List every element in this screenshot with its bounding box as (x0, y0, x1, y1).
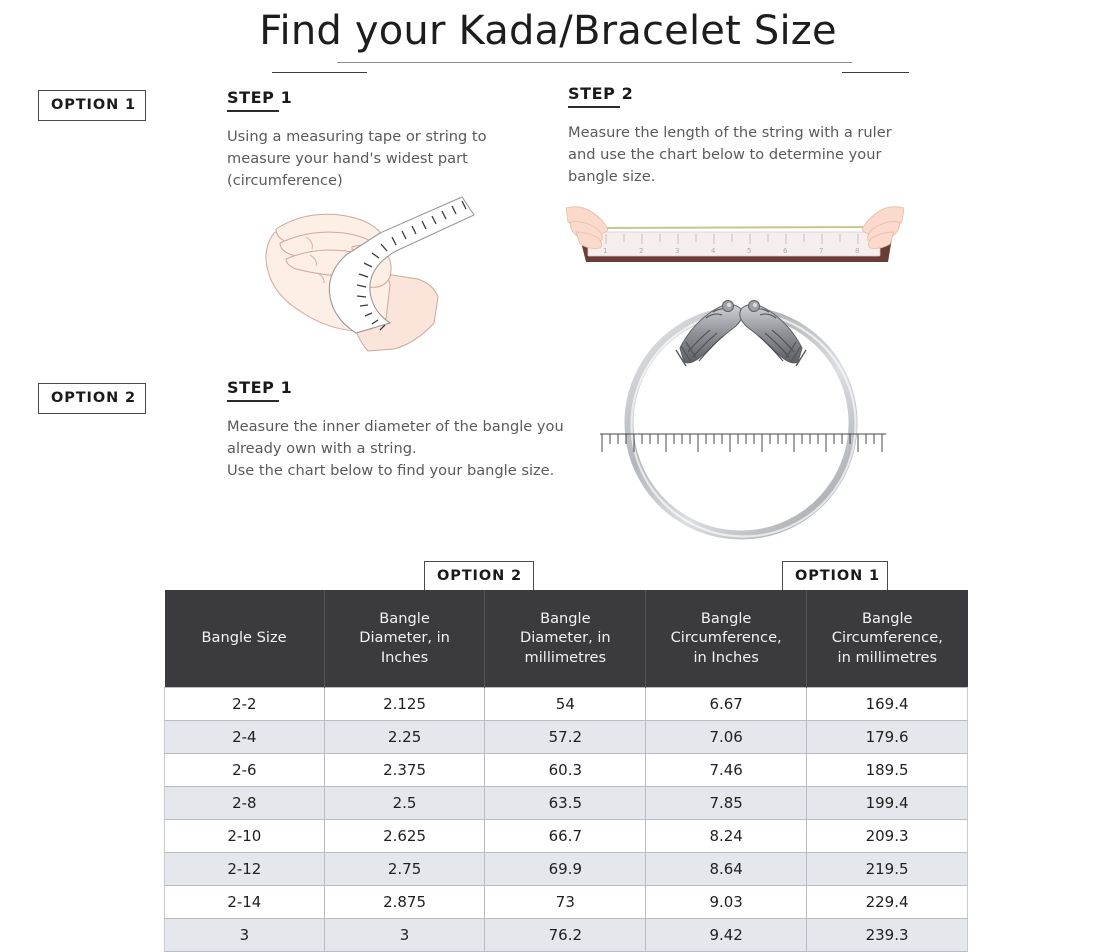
table-cell: 8.24 (646, 819, 807, 852)
option1-step2-heading: STEP 2 (568, 84, 918, 103)
table-column-header-4: BangleCircumference,in Inches (646, 590, 807, 687)
table-cell: 7.85 (646, 786, 807, 819)
column-header-line: in millimetres (838, 649, 938, 666)
silver-kada-bangle-with-ruler-illustration (580, 288, 902, 550)
table-cell: 209.3 (807, 819, 968, 852)
bangle-size-table: Bangle SizeBangleDiameter, inInchesBangl… (164, 590, 968, 952)
hand-with-measuring-tape-illustration (248, 193, 484, 365)
svg-text:7: 7 (819, 247, 823, 255)
option2-step1-block: STEP 1 Measure the inner diameter of the… (227, 378, 567, 482)
table-cell: 219.5 (807, 852, 968, 885)
option1-step1-block: STEP 1 Using a measuring tape or string … (227, 88, 527, 192)
option-1-badge-table: OPTION 1 (782, 561, 888, 592)
column-header-line: Inches (381, 649, 428, 666)
table-cell: 179.6 (807, 720, 968, 753)
column-header-line: Diameter, in (359, 629, 450, 646)
page-title: Find your Kada/Bracelet Size (0, 8, 1096, 54)
hand-tape-svg (248, 193, 484, 365)
option1-step2-body: Measure the length of the string with a … (568, 122, 918, 189)
bangle-terminal-right (740, 301, 806, 367)
table-cell: 2.5 (324, 786, 485, 819)
table-cell: 9.42 (646, 918, 807, 951)
table-row: 2-42.2557.27.06179.6 (165, 720, 968, 753)
column-header-line: Bangle (540, 610, 591, 627)
table-row: 2-122.7569.98.64219.5 (165, 852, 968, 885)
option1-step1-body: Using a measuring tape or string to meas… (227, 126, 527, 193)
table-row: 3376.29.42239.3 (165, 918, 968, 951)
ruler-string-svg: 123 456 78 (566, 196, 904, 288)
table-column-header-2: BangleDiameter, inInches (324, 590, 485, 687)
table-cell: 2.375 (324, 753, 485, 786)
table-cell: 2.75 (324, 852, 485, 885)
svg-text:8: 8 (855, 247, 859, 255)
column-header-line: Bangle (379, 610, 430, 627)
table-cell: 63.5 (485, 786, 646, 819)
svg-text:3: 3 (675, 247, 679, 255)
table-row: 2-82.563.57.85199.4 (165, 786, 968, 819)
decorative-line-right (842, 72, 909, 73)
svg-text:4: 4 (711, 247, 716, 255)
column-header-line: Circumference, (832, 629, 943, 646)
bangle-size-cell: 2-6 (165, 753, 325, 786)
option-1-badge-left: OPTION 1 (38, 90, 146, 121)
table-cell: 2.125 (324, 687, 485, 720)
ruler-overlay-icon (600, 434, 886, 452)
decorative-line-left (272, 72, 367, 73)
column-header-line: in Inches (693, 649, 758, 666)
table-cell: 66.7 (485, 819, 646, 852)
bangle-size-cell: 2-14 (165, 885, 325, 918)
table-cell: 2.625 (324, 819, 485, 852)
table-cell: 8.64 (646, 852, 807, 885)
table-header: Bangle SizeBangleDiameter, inInchesBangl… (165, 590, 968, 687)
column-header-line: Bangle Size (202, 629, 287, 646)
option1-step1-heading: STEP 1 (227, 88, 527, 107)
bangle-ruler-svg (580, 288, 902, 550)
bangle-size-cell: 2-2 (165, 687, 325, 720)
table-cell: 229.4 (807, 885, 968, 918)
column-header-line: Bangle (862, 610, 913, 627)
table-cell: 7.46 (646, 753, 807, 786)
table-cell: 2.875 (324, 885, 485, 918)
table-cell: 3 (324, 918, 485, 951)
bangle-size-cell: 2-10 (165, 819, 325, 852)
table-cell: 7.06 (646, 720, 807, 753)
table-cell: 73 (485, 885, 646, 918)
bangle-terminal-left (676, 301, 742, 367)
bangle-size-cell: 2-12 (165, 852, 325, 885)
bangle-size-cell: 3 (165, 918, 325, 951)
column-header-line: Diameter, in (520, 629, 611, 646)
table-column-header-3: BangleDiameter, inmillimetres (485, 590, 646, 687)
bangle-size-cell: 2-8 (165, 786, 325, 819)
table-cell: 76.2 (485, 918, 646, 951)
table-cell: 189.5 (807, 753, 968, 786)
table-row: 2-22.125546.67169.4 (165, 687, 968, 720)
table-cell: 9.03 (646, 885, 807, 918)
column-header-line: Bangle (701, 610, 752, 627)
table-header-row: Bangle SizeBangleDiameter, inInchesBangl… (165, 590, 968, 687)
svg-text:6: 6 (783, 247, 788, 255)
option-2-badge-left: OPTION 2 (38, 383, 146, 414)
option-2-badge-table: OPTION 2 (424, 561, 534, 592)
table-row: 2-142.875739.03229.4 (165, 885, 968, 918)
svg-text:5: 5 (747, 247, 751, 255)
step-heading-rule (227, 110, 279, 112)
svg-text:1: 1 (603, 247, 607, 255)
table-row: 2-62.37560.37.46189.5 (165, 753, 968, 786)
table-cell: 57.2 (485, 720, 646, 753)
table-body: 2-22.125546.67169.42-42.2557.27.06179.62… (165, 687, 968, 951)
table-cell: 239.3 (807, 918, 968, 951)
table-cell: 6.67 (646, 687, 807, 720)
hands-holding-ruler-with-string-photo: 123 456 78 (566, 196, 904, 288)
title-underline (337, 62, 852, 63)
table-cell: 2.25 (324, 720, 485, 753)
table-column-header-5: BangleCircumference,in millimetres (807, 590, 968, 687)
table-cell: 69.9 (485, 852, 646, 885)
table-cell: 60.3 (485, 753, 646, 786)
svg-text:2: 2 (639, 247, 643, 255)
table-row: 2-102.62566.78.24209.3 (165, 819, 968, 852)
option1-step2-block: STEP 2 Measure the length of the string … (568, 84, 918, 188)
table-column-header-1: Bangle Size (165, 590, 325, 687)
table-cell: 199.4 (807, 786, 968, 819)
bangle-size-cell: 2-4 (165, 720, 325, 753)
option2-step1-heading: STEP 1 (227, 378, 567, 397)
step-heading-rule (568, 106, 620, 108)
option2-step1-body: Measure the inner diameter of the bangle… (227, 416, 567, 483)
table-cell: 169.4 (807, 687, 968, 720)
column-header-line: Circumference, (671, 629, 782, 646)
column-header-line: millimetres (525, 649, 607, 666)
step-heading-rule (227, 400, 279, 402)
table-cell: 54 (485, 687, 646, 720)
